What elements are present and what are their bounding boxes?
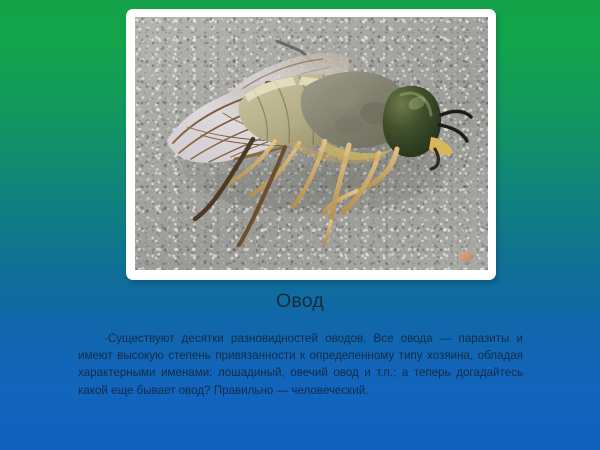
presentation-slide: Овод ·Существуют десятки разновидностей … — [0, 0, 600, 450]
photo-frame[interactable] — [126, 9, 496, 280]
slide-body-text: ·Существуют десятки разновидностей оводо… — [78, 330, 523, 399]
body-paragraph: Существуют десятки разновидностей оводов… — [78, 332, 523, 397]
horsefly-photograph[interactable] — [135, 17, 488, 270]
slide-title: Овод — [0, 288, 600, 314]
horsefly-illustration — [135, 17, 488, 270]
